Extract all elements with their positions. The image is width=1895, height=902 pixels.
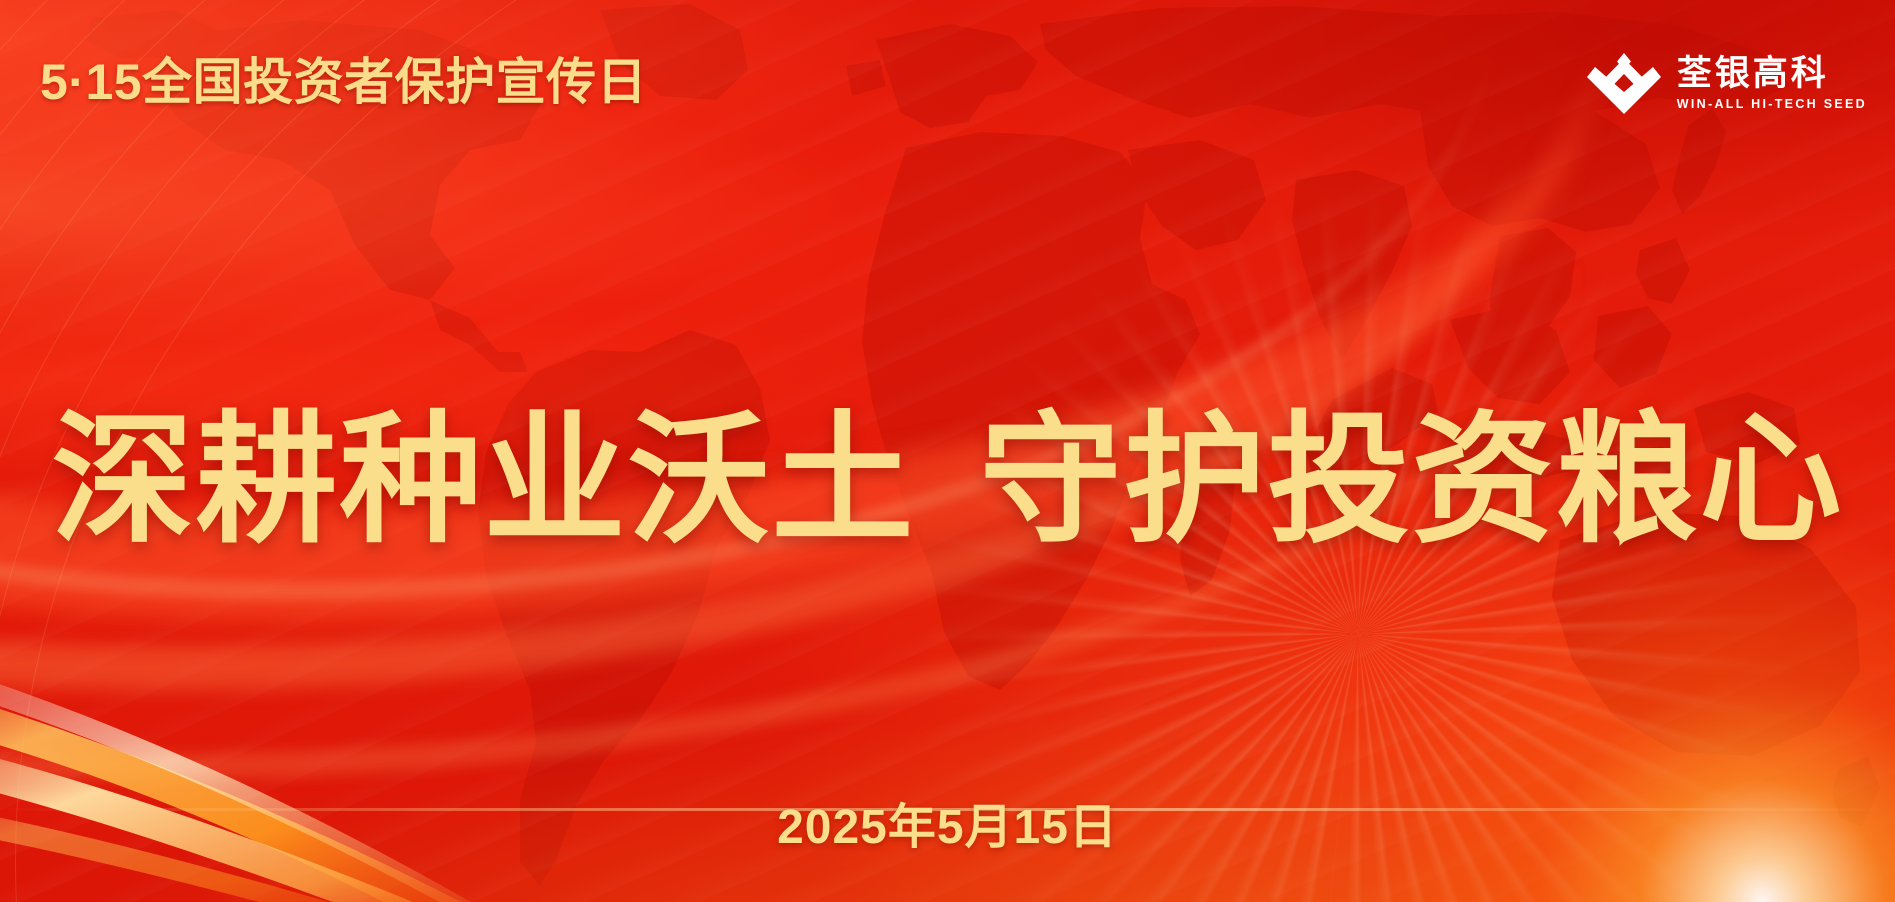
main-headline: 深耕种业沃土守护投资粮心 — [0, 410, 1895, 552]
win-all-chevron-icon — [1587, 52, 1661, 114]
event-title: 5·15全国投资者保护宣传日 — [40, 54, 647, 110]
company-logo: 荃银高科 WIN-ALL HI-TECH SEED — [1587, 52, 1867, 114]
headline-part-one: 深耕种业沃土 — [52, 401, 916, 560]
event-date: 2025年5月15日 — [0, 787, 1895, 857]
investor-protection-day-banner: 5·15全国投资者保护宣传日 荃银高科 WIN-ALL HI-TECH SEED… — [0, 0, 1895, 902]
logo-company-name-cn: 荃银高科 — [1677, 55, 1867, 92]
banner-content: 5·15全国投资者保护宣传日 荃银高科 WIN-ALL HI-TECH SEED… — [0, 0, 1895, 902]
logo-wordmark: 荃银高科 WIN-ALL HI-TECH SEED — [1677, 55, 1867, 110]
logo-company-name-en: WIN-ALL HI-TECH SEED — [1677, 97, 1867, 111]
headline-part-two: 守护投资粮心 — [980, 401, 1844, 560]
